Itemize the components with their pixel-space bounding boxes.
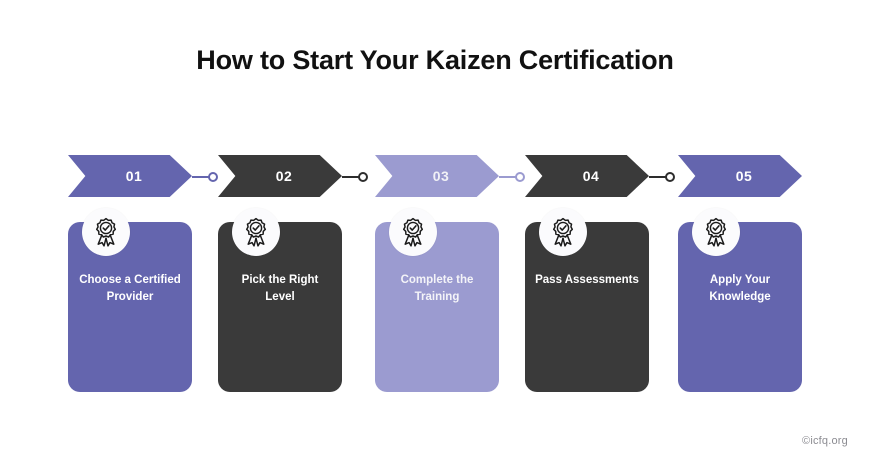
step-connector-2 <box>342 176 368 178</box>
step-connector-3 <box>499 176 525 178</box>
infographic-canvas: How to Start Your Kaizen Certification 0… <box>0 0 870 463</box>
step-number-label: 03 <box>433 168 450 184</box>
award-ribbon-icon <box>91 216 121 248</box>
step-chevron-02[interactable]: 02 <box>218 155 342 197</box>
step-chevron-01[interactable]: 01 <box>68 155 192 197</box>
award-ribbon-icon <box>548 216 578 248</box>
step-number-band: 0102030405 <box>0 155 870 197</box>
step-chevron-04[interactable]: 04 <box>525 155 649 197</box>
watermark: ©icfq.org <box>802 435 848 447</box>
step-card-label: Complete the Training <box>383 272 491 305</box>
step-connector-1 <box>192 176 218 178</box>
step-card-05[interactable]: Apply Your Knowledge <box>678 222 802 392</box>
step-card-04[interactable]: Pass Assessments <box>525 222 649 392</box>
connector-dot-icon <box>515 172 525 182</box>
step-number-label: 05 <box>736 168 753 184</box>
connector-dot-icon <box>358 172 368 182</box>
award-ribbon-icon <box>398 216 428 248</box>
step-card-label: Pick the Right Level <box>226 272 334 305</box>
step-badge-01 <box>82 208 130 256</box>
step-card-label: Choose a Certified Provider <box>76 272 184 305</box>
step-badge-05 <box>692 208 740 256</box>
step-chevron-05[interactable]: 05 <box>678 155 802 197</box>
step-card-label: Pass Assessments <box>533 272 641 289</box>
award-ribbon-icon <box>241 216 271 248</box>
page-title: How to Start Your Kaizen Certification <box>0 45 870 76</box>
connector-dot-icon <box>665 172 675 182</box>
award-ribbon-icon <box>701 216 731 248</box>
step-chevron-03[interactable]: 03 <box>375 155 499 197</box>
step-connector-4 <box>649 176 675 178</box>
step-number-label: 01 <box>126 168 143 184</box>
step-badge-02 <box>232 208 280 256</box>
step-card-label: Apply Your Knowledge <box>686 272 794 305</box>
step-badge-03 <box>389 208 437 256</box>
step-card-03[interactable]: Complete the Training <box>375 222 499 392</box>
step-card-02[interactable]: Pick the Right Level <box>218 222 342 392</box>
watermark-text: ©icfq.org <box>802 435 848 447</box>
step-badge-04 <box>539 208 587 256</box>
step-number-label: 02 <box>276 168 293 184</box>
step-card-01[interactable]: Choose a Certified Provider <box>68 222 192 392</box>
step-number-label: 04 <box>583 168 600 184</box>
connector-dot-icon <box>208 172 218 182</box>
